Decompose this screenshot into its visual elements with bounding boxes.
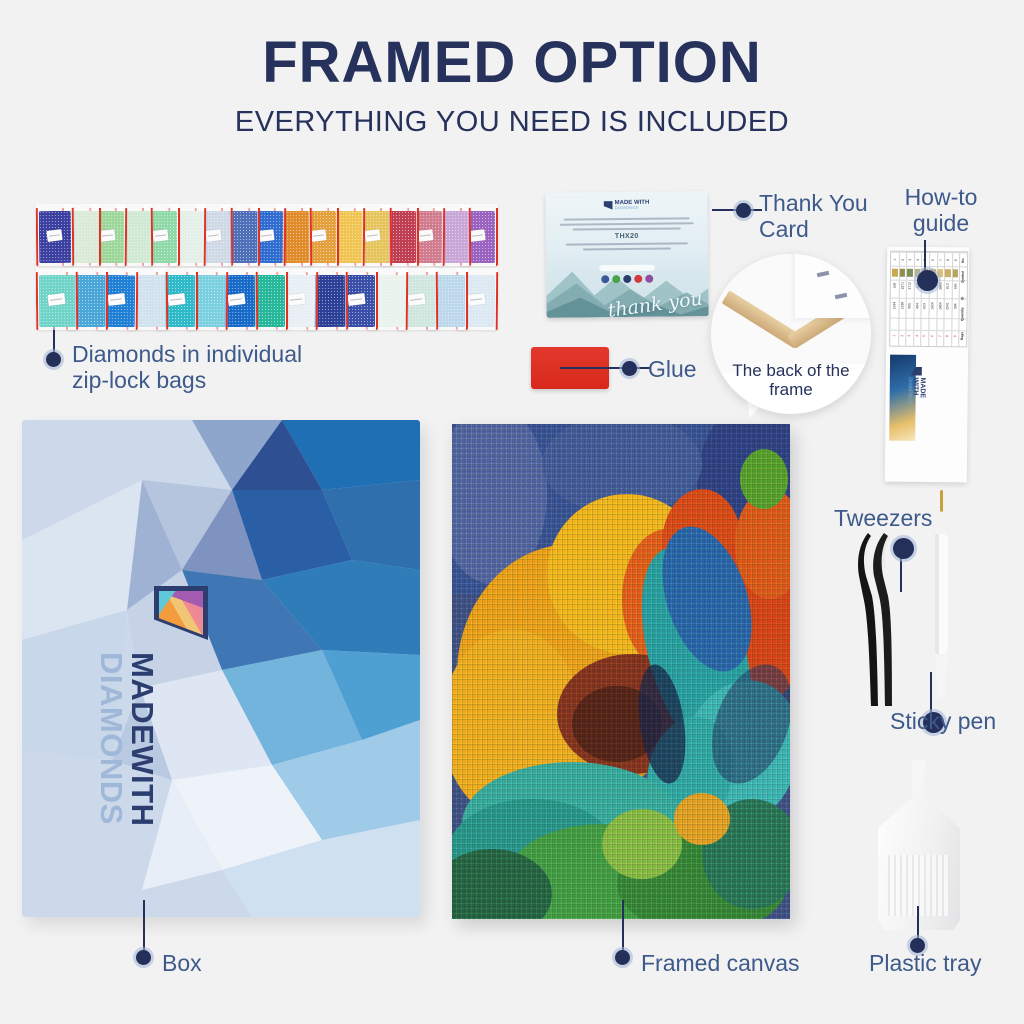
guide-chart-cell: 6 xyxy=(930,332,934,340)
box-wordmark-line2: DIAMONDS xyxy=(94,652,129,825)
guide-chart-header: Symbol xyxy=(961,276,965,284)
guide-chart-header: Quantity xyxy=(961,314,965,322)
guide-chart-cell: 813 xyxy=(946,282,950,290)
callout-dot-canvas xyxy=(615,950,630,965)
thank-you-card: MADE WITH DIAMONDS THX20 thank you xyxy=(545,191,708,318)
guide-chart-cell: 7 xyxy=(938,332,942,340)
tray-ribs xyxy=(888,855,950,916)
guide-chart-header: Bags xyxy=(960,333,964,341)
guide-chart-cell: 2541 xyxy=(946,302,950,310)
guide-chart-cell: 7 xyxy=(938,256,942,264)
callout-dot-box xyxy=(136,950,151,965)
guide-color-swatch xyxy=(938,269,944,277)
guide-chart-cell: 9 xyxy=(954,256,958,264)
plastic-tray xyxy=(878,760,960,930)
tweezers-tool xyxy=(858,530,898,710)
guide-color-swatch xyxy=(953,269,959,277)
guide-chart-cell: 2 xyxy=(900,332,904,340)
card-url-bar xyxy=(599,265,655,272)
guide-brand-line2: DIAMONDS xyxy=(907,377,912,409)
guide-color-swatch xyxy=(907,269,913,277)
box-wordmark: MADEWITH DIAMONDS xyxy=(96,652,158,882)
tiktok-icon xyxy=(645,275,653,283)
callout-dot-diamonds xyxy=(46,352,61,367)
guide-chart-cell: 1854 xyxy=(938,302,942,310)
card-brand-line2: DIAMONDS xyxy=(615,206,650,210)
facebook-icon xyxy=(601,275,609,283)
gem-icon xyxy=(911,367,922,376)
guide-chart-cell: 2 xyxy=(900,256,904,264)
callout-line-box xyxy=(143,900,145,952)
page-title: FRAMED OPTION xyxy=(0,34,1024,92)
guide-chart-cell: 394 xyxy=(953,302,957,310)
guide-brand-line1: MADE WITH xyxy=(912,377,926,409)
guide-chart-cell: 4 xyxy=(915,332,919,340)
guide-chart-cell: 1 xyxy=(893,256,897,264)
callout-label-guide: How-to guide xyxy=(893,184,989,237)
callout-line-tray xyxy=(917,906,919,942)
diamond-bag xyxy=(36,268,79,330)
youtube-icon xyxy=(634,275,642,283)
instagram-icon xyxy=(612,275,620,283)
callout-label-pen: Sticky pen xyxy=(890,708,996,734)
gem-icon xyxy=(154,586,208,640)
guide-chart-cell: 666 xyxy=(953,282,957,290)
box-wordmark-line1: MADEWITH xyxy=(125,652,160,826)
callout-label-thank-you: Thank You Card xyxy=(759,190,868,243)
guide-color-swatch xyxy=(945,269,951,277)
sticky-pen-tool xyxy=(930,490,954,700)
box-brand-logo: MADEWITH DIAMONDS xyxy=(152,586,212,886)
card-social-icons xyxy=(601,275,653,284)
callout-dot-glue xyxy=(622,361,637,376)
guide-chart-cell: 9 xyxy=(953,332,957,340)
callout-label-tray: Plastic tray xyxy=(869,950,981,976)
sticky-pen-shape xyxy=(930,490,954,700)
card-brand-logo: MADE WITH DIAMONDS xyxy=(604,200,650,210)
card-promo-code: THX20 xyxy=(615,233,639,240)
canvas-diamond-grid xyxy=(452,424,790,919)
callout-label-tweezers: Tweezers xyxy=(834,505,932,531)
box-lowpoly-pattern xyxy=(22,420,420,917)
guide-brand-logo: MADE WITH DIAMONDS xyxy=(907,367,926,409)
infographic-canvas: FRAMED OPTION EVERYTHING YOU NEED IS INC… xyxy=(0,0,1024,1024)
guide-chart-cell: 1 xyxy=(892,332,896,340)
diamond-bag xyxy=(36,204,75,266)
callout-label-canvas: Framed canvas xyxy=(641,950,800,976)
callout-dot-tweezers xyxy=(893,538,914,559)
guide-chart-cell: 1238 xyxy=(900,302,904,310)
frame-back-bubble: The back of the frame xyxy=(711,254,871,414)
guide-chart-cell: 8 xyxy=(945,332,949,340)
guide-chart-cell: 3371 xyxy=(900,282,904,290)
guide-chart-cell: 955 xyxy=(908,302,912,310)
guide-chart-cell: 3 xyxy=(908,256,912,264)
guide-chart-cell: 603 xyxy=(923,302,927,310)
callout-label-glue: Glue xyxy=(648,356,697,382)
product-box xyxy=(22,420,420,917)
callout-dot-guide xyxy=(917,270,938,291)
gem-icon xyxy=(604,201,613,210)
guide-chart-cell: 3712 xyxy=(908,282,912,290)
tweezers-shape xyxy=(858,530,898,710)
guide-color-swatch xyxy=(900,269,906,277)
guide-chart-cell: 494 xyxy=(915,302,919,310)
diamond-bag-row-bottom xyxy=(36,268,520,330)
page-subtitle: EVERYTHING YOU NEED IS INCLUDED xyxy=(0,108,1024,137)
guide-chart-cell: 4 xyxy=(916,256,920,264)
callout-label-diamonds: Diamonds in individual zip-lock bags xyxy=(72,341,302,394)
guide-chart-cell: 5 xyxy=(922,332,926,340)
guide-color-swatch xyxy=(892,269,898,277)
guide-chart-cell: 168 xyxy=(893,282,897,290)
pinterest-icon xyxy=(623,275,631,283)
guide-chart-cell: 1534 xyxy=(892,302,896,310)
callout-dot-thank-you xyxy=(736,203,751,218)
framed-canvas xyxy=(452,424,790,919)
bubble-caption: The back of the frame xyxy=(711,361,871,400)
guide-chart-header: ID xyxy=(961,295,965,303)
guide-chart-cell: 3860 xyxy=(938,282,942,290)
card-message-text: THX20 xyxy=(554,217,700,251)
guide-color-chart: 1168153412337112382337129553442049445310… xyxy=(889,251,968,348)
diamond-bag-row-top xyxy=(36,204,520,266)
guide-chart-cell: 1924 xyxy=(930,302,934,310)
callout-label-box: Box xyxy=(162,950,202,976)
callout-line-canvas xyxy=(622,900,624,952)
guide-chart-cell: 8 xyxy=(946,256,950,264)
guide-chart-cell: 3 xyxy=(907,332,911,340)
guide-chart-header: No. xyxy=(961,257,965,265)
guide-chart-cell: 6 xyxy=(931,256,935,264)
